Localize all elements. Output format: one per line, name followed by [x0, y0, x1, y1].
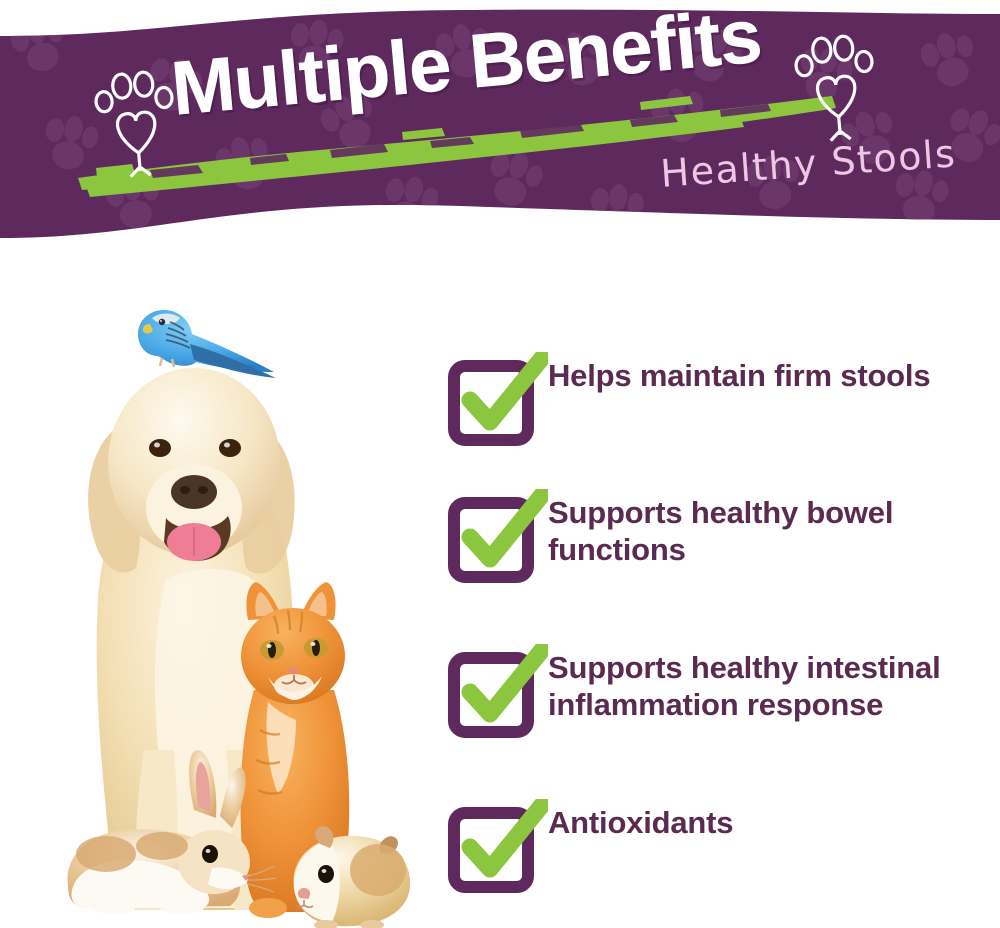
checked-checkbox-icon: [448, 799, 548, 894]
benefit-item-3: Supports healthy intestinal inflammation…: [448, 644, 1000, 799]
benefits-list: Helps maintain firm stools Supports heal…: [448, 352, 1000, 894]
benefit-item-2: Supports healthy bowel functions: [448, 489, 1000, 644]
benefit-label-3: Supports healthy intestinal inflammation…: [548, 644, 996, 723]
banner-title: Multiple Benefits: [168, 0, 764, 133]
benefit-item-1: Helps maintain firm stools: [448, 352, 1000, 489]
animals-photo: [48, 280, 448, 928]
checkbox-wrap-2: [448, 489, 548, 584]
benefit-label-4: Antioxidants: [548, 799, 733, 842]
header-banner: Multiple Benefits Healthy Stools: [0, 0, 1000, 252]
benefit-label-2: Supports healthy bowel functions: [548, 489, 948, 568]
product-benefits-infographic: Multiple Benefits Healthy Stools: [0, 0, 1000, 928]
checkbox-wrap-3: [448, 644, 548, 739]
banner-subtitle: Healthy Stools: [659, 131, 958, 196]
checked-checkbox-icon: [448, 644, 548, 739]
budgie-illustration: [138, 310, 276, 378]
checkbox-wrap-1: [448, 352, 548, 447]
benefit-item-4: Antioxidants: [448, 799, 1000, 894]
benefit-label-1: Helps maintain firm stools: [548, 352, 930, 395]
checked-checkbox-icon: [448, 489, 548, 584]
checked-checkbox-icon: [448, 352, 548, 447]
checkbox-wrap-4: [448, 799, 548, 894]
